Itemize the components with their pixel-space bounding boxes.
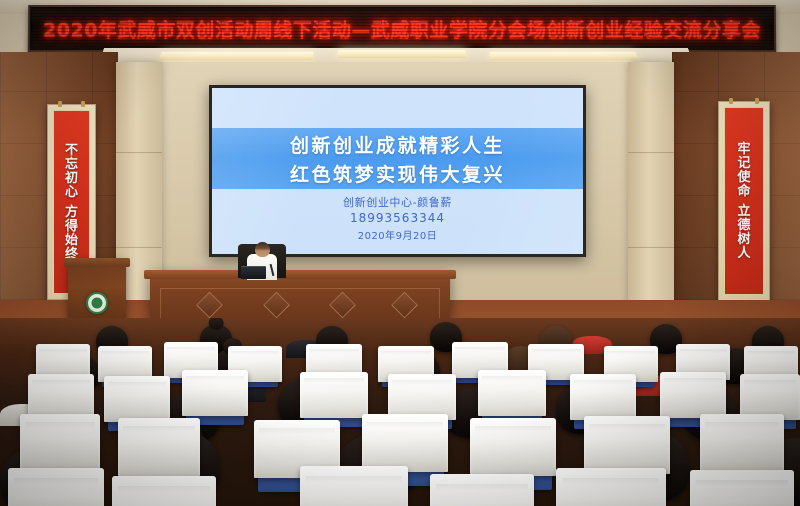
chair-with-white-cover <box>118 418 200 476</box>
ceiling-light-panel <box>490 52 639 60</box>
projection-screen: 创新创业成就精彩人生 红色筑梦实现伟大复兴 创新创业中心-颜鲁薪 1899356… <box>212 88 583 254</box>
presenter-head <box>255 242 270 257</box>
scroll-char: 使 <box>737 171 750 184</box>
scroll-char: 命 <box>737 185 750 198</box>
chair-with-white-cover <box>430 474 534 506</box>
seated-presenter <box>236 238 288 280</box>
scroll-char: 立 <box>737 205 750 218</box>
chair-with-white-cover <box>470 418 556 476</box>
laptop-icon <box>241 266 266 279</box>
chair-with-white-cover <box>570 374 636 420</box>
chair-with-white-cover <box>556 468 666 506</box>
scroll-char: 不 <box>65 144 78 157</box>
scroll-char: 初 <box>65 172 78 185</box>
chair-with-white-cover <box>362 414 448 472</box>
led-banner-panel: 2020年武威市双创活动周线下活动—武威职业学院分会场创新创业经验交流分享会 <box>28 5 776 52</box>
slide-phone: 18993563344 <box>350 211 445 225</box>
chair-with-white-cover <box>300 372 368 418</box>
projection-screen-frame: 创新创业成就精彩人生 红色筑梦实现伟大复兴 创新创业中心-颜鲁薪 1899356… <box>209 85 586 257</box>
chair-with-white-cover <box>690 470 794 506</box>
scroll-char: 得 <box>65 220 78 233</box>
scroll-char: 始 <box>65 234 78 247</box>
chair-with-white-cover <box>112 476 216 506</box>
scroll-char: 树 <box>737 233 750 246</box>
chair-with-white-cover <box>660 372 726 418</box>
chair-with-white-cover <box>182 370 248 416</box>
ceiling-light-panel <box>160 52 314 60</box>
scroll-char: 心 <box>65 186 78 199</box>
auditorium-scene: 2020年武威市双创活动周线下活动—武威职业学院分会场创新创业经验交流分享会 不… <box>0 0 800 506</box>
desk-front-panel <box>160 288 440 322</box>
chair-with-white-cover <box>478 370 546 416</box>
chair-with-white-cover <box>584 416 670 474</box>
slide-title-line-1: 创新创业成就精彩人生 <box>290 131 505 158</box>
chair-with-white-cover <box>20 414 100 472</box>
chair-with-white-cover <box>8 468 104 506</box>
slide-presenter: 创新创业中心-颜鲁薪 <box>343 194 452 210</box>
chair-with-white-cover <box>700 414 784 472</box>
ceiling-light-panel <box>337 50 467 58</box>
scroll-banner-right: 牢记使命立德树人 <box>718 101 770 301</box>
led-banner-text: 2020年武威市双创活动周线下活动—武威职业学院分会场创新创业经验交流分享会 <box>30 15 774 42</box>
chair-with-white-cover <box>104 376 170 422</box>
chair-with-white-cover <box>300 466 408 506</box>
scroll-char: 牢 <box>737 143 750 156</box>
scroll-char: 忘 <box>65 158 78 171</box>
slide-title-group: 创新创业成就精彩人生 红色筑梦实现伟大复兴 <box>212 128 583 189</box>
slide-title-line-2: 红色筑梦实现伟大复兴 <box>290 160 505 187</box>
scroll-char: 记 <box>737 157 750 170</box>
school-emblem-icon <box>86 292 108 314</box>
slide-subtitle-group: 创新创业中心-颜鲁薪 18993563344 <box>212 194 583 225</box>
scroll-char: 方 <box>65 206 78 219</box>
scroll-char: 德 <box>737 219 750 232</box>
scroll-banner-right-text: 牢记使命立德树人 <box>724 107 764 295</box>
scroll-char: 人 <box>737 247 750 260</box>
audience-seating-area <box>0 318 800 506</box>
